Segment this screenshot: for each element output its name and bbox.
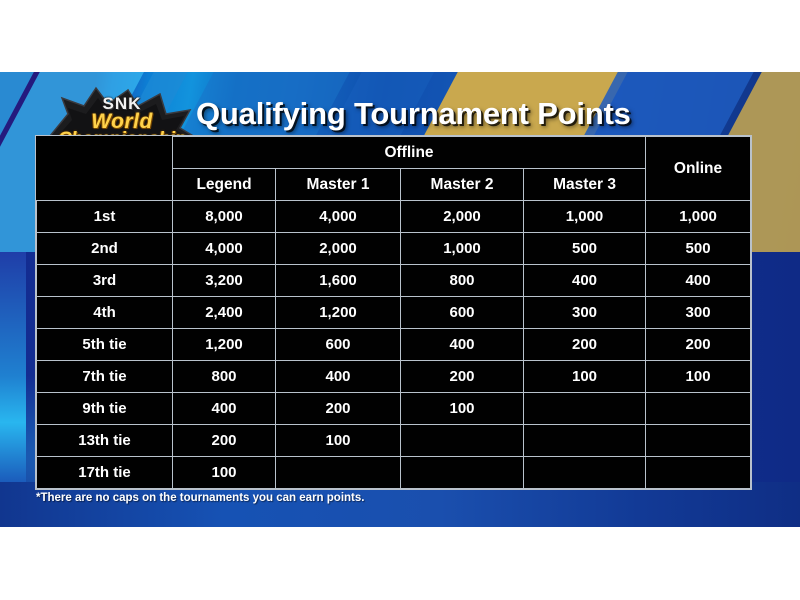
- legend-cell: 2,400: [173, 297, 276, 329]
- legend-cell: 1,200: [173, 329, 276, 361]
- rank-cell: 17th tie: [37, 457, 173, 489]
- header-master-3: Master 3: [524, 169, 646, 201]
- rank-cell: 2nd: [37, 233, 173, 265]
- header-master-2: Master 2: [401, 169, 524, 201]
- master1-cell: 4,000: [276, 201, 401, 233]
- master3-cell: [524, 457, 646, 489]
- rank-cell: 9th tie: [37, 393, 173, 425]
- legend-cell: 8,000: [173, 201, 276, 233]
- rank-cell: 1st: [37, 201, 173, 233]
- legend-cell: 800: [173, 361, 276, 393]
- table-row: 3rd3,2001,600800400400: [37, 265, 751, 297]
- screenshot-canvas: SNK World Championship OFFICIAL TOURNAME…: [0, 0, 800, 600]
- table-body: 1st8,0004,0002,0001,0001,0002nd4,0002,00…: [37, 201, 751, 489]
- header-master-1: Master 1: [276, 169, 401, 201]
- table-row: 1st8,0004,0002,0001,0001,000: [37, 201, 751, 233]
- online-cell: 200: [646, 329, 751, 361]
- table-row: 13th tie200100: [37, 425, 751, 457]
- master2-cell: 1,000: [401, 233, 524, 265]
- master3-cell: 400: [524, 265, 646, 297]
- table-row: 17th tie100: [37, 457, 751, 489]
- legend-cell: 3,200: [173, 265, 276, 297]
- legend-cell: 200: [173, 425, 276, 457]
- header-rank-blank: [37, 137, 173, 169]
- header-legend: Legend: [173, 169, 276, 201]
- online-cell: 1,000: [646, 201, 751, 233]
- master3-cell: 500: [524, 233, 646, 265]
- online-cell: 400: [646, 265, 751, 297]
- master2-cell: 100: [401, 393, 524, 425]
- rank-cell: 4th: [37, 297, 173, 329]
- online-cell: 100: [646, 361, 751, 393]
- master2-cell: 600: [401, 297, 524, 329]
- header-offline-group: Offline: [173, 137, 646, 169]
- legend-cell: 400: [173, 393, 276, 425]
- master1-cell: 2,000: [276, 233, 401, 265]
- master2-cell: 200: [401, 361, 524, 393]
- rank-cell: 13th tie: [37, 425, 173, 457]
- master3-cell: [524, 425, 646, 457]
- master1-cell: 400: [276, 361, 401, 393]
- table-header-row-group: Offline Online: [37, 137, 751, 169]
- master1-cell: 1,200: [276, 297, 401, 329]
- header-rank-blank-2: [37, 169, 173, 201]
- master2-cell: [401, 457, 524, 489]
- online-cell: 300: [646, 297, 751, 329]
- legend-cell: 100: [173, 457, 276, 489]
- tournament-points-banner: SNK World Championship OFFICIAL TOURNAME…: [0, 72, 800, 527]
- master2-cell: 800: [401, 265, 524, 297]
- rank-cell: 7th tie: [37, 361, 173, 393]
- legend-cell: 4,000: [173, 233, 276, 265]
- table-header-row-columns: Legend Master 1 Master 2 Master 3: [37, 169, 751, 201]
- online-cell: [646, 457, 751, 489]
- online-cell: [646, 425, 751, 457]
- master1-cell: 100: [276, 425, 401, 457]
- rank-cell: 3rd: [37, 265, 173, 297]
- qualifying-points-table: Offline Online Legend Master 1 Master 2 …: [36, 136, 751, 489]
- master1-cell: [276, 457, 401, 489]
- master2-cell: 2,000: [401, 201, 524, 233]
- page-title: Qualifying Tournament Points: [196, 96, 631, 132]
- table-row: 5th tie1,200600400200200: [37, 329, 751, 361]
- online-cell: [646, 393, 751, 425]
- master2-cell: 400: [401, 329, 524, 361]
- master3-cell: [524, 393, 646, 425]
- table-row: 9th tie400200100: [37, 393, 751, 425]
- rank-cell: 5th tie: [37, 329, 173, 361]
- master3-cell: 300: [524, 297, 646, 329]
- master3-cell: 100: [524, 361, 646, 393]
- master1-cell: 1,600: [276, 265, 401, 297]
- master2-cell: [401, 425, 524, 457]
- master3-cell: 200: [524, 329, 646, 361]
- table-row: 2nd4,0002,0001,000500500: [37, 233, 751, 265]
- online-cell: 500: [646, 233, 751, 265]
- master3-cell: 1,000: [524, 201, 646, 233]
- header-online: Online: [646, 137, 751, 201]
- master1-cell: 600: [276, 329, 401, 361]
- master1-cell: 200: [276, 393, 401, 425]
- table-head: Offline Online Legend Master 1 Master 2 …: [37, 137, 751, 201]
- footnote-text: *There are no caps on the tournaments yo…: [36, 492, 364, 504]
- table-row: 7th tie800400200100100: [37, 361, 751, 393]
- table-row: 4th2,4001,200600300300: [37, 297, 751, 329]
